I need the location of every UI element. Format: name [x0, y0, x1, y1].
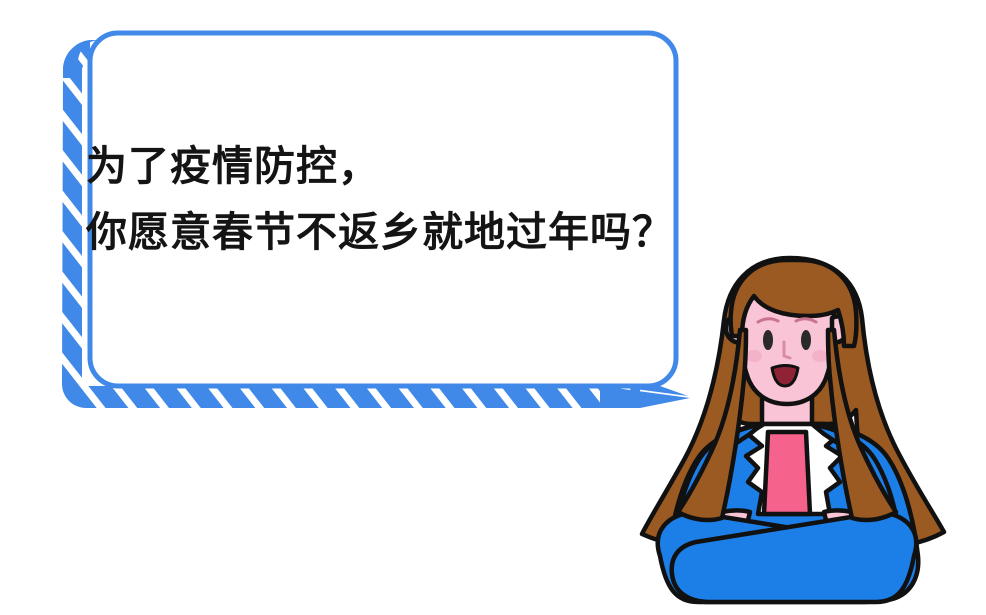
- cheek-right: [812, 350, 828, 362]
- bubble-text-block: 为了疫情防控， 你愿意春节不返乡就地过年吗？: [86, 133, 656, 265]
- inner-top: [764, 432, 810, 514]
- poster-canvas: 为了疫情防控， 你愿意春节不返乡就地过年吗？: [0, 0, 986, 615]
- eye-right: [801, 330, 811, 350]
- bubble-text-line-1: 为了疫情防控，: [86, 133, 656, 199]
- eye-left: [763, 330, 773, 350]
- cheek-left: [746, 350, 762, 362]
- woman-illustration: [0, 0, 986, 615]
- bubble-text-line-2: 你愿意春节不返乡就地过年吗？: [86, 199, 656, 265]
